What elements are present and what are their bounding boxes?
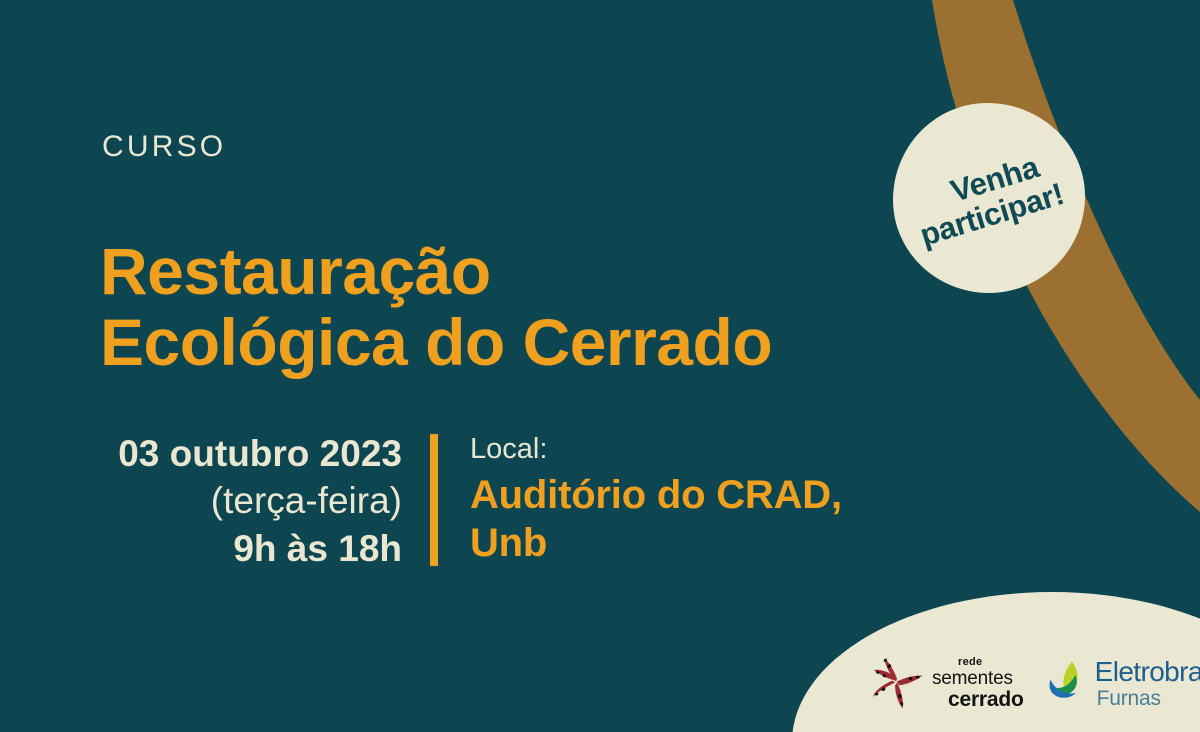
rede-sementes-do-cerrado-logo[interactable]: rede sementes cerrado (868, 651, 1024, 715)
page-title: Restauração Ecológica do Cerrado (100, 236, 772, 379)
logo-word-rede: rede (958, 657, 1024, 668)
local-value: Auditório do CRAD, Unb (470, 471, 842, 567)
sponsor-logo-row: rede sementes cerrado Eletrobras Furnas (868, 642, 1168, 724)
eletrobras-wordmark: Eletrobras Furnas (1095, 658, 1200, 709)
local-label: Local: (470, 432, 842, 467)
eletrobras-furnas-logo[interactable]: Eletrobras Furnas (1046, 658, 1200, 709)
poster-content: CURSO Restauração Ecológica do Cerrado 0… (100, 0, 920, 732)
kicker-label: CURSO (102, 130, 226, 164)
furnas-name: Furnas (1097, 688, 1200, 709)
event-info-band: 03 outubro 2023 (terça-feira) 9h às 18h … (100, 430, 842, 572)
vertical-divider (430, 434, 438, 566)
event-time: 9h às 18h (100, 525, 402, 572)
rede-sementes-wordmark: rede sementes cerrado (932, 657, 1024, 710)
venha-participar-badge[interactable]: Venha participar! (893, 103, 1085, 293)
seed-pinwheel-icon (868, 651, 926, 715)
event-place-block: Local: Auditório do CRAD, Unb (438, 430, 842, 572)
eletrobras-flame-icon (1046, 660, 1088, 706)
event-weekday: (terça-feira) (100, 477, 402, 524)
eletrobras-name: Eletrobras (1095, 658, 1200, 686)
logo-word-cerrado: cerrado (948, 689, 1024, 710)
event-date: 03 outubro 2023 (100, 430, 402, 477)
logo-word-sementes: sementes (932, 669, 1024, 688)
event-date-block: 03 outubro 2023 (terça-feira) 9h às 18h (100, 430, 430, 572)
poster-canvas: Venha participar! CURSO Restauração Ecol… (0, 0, 1200, 732)
